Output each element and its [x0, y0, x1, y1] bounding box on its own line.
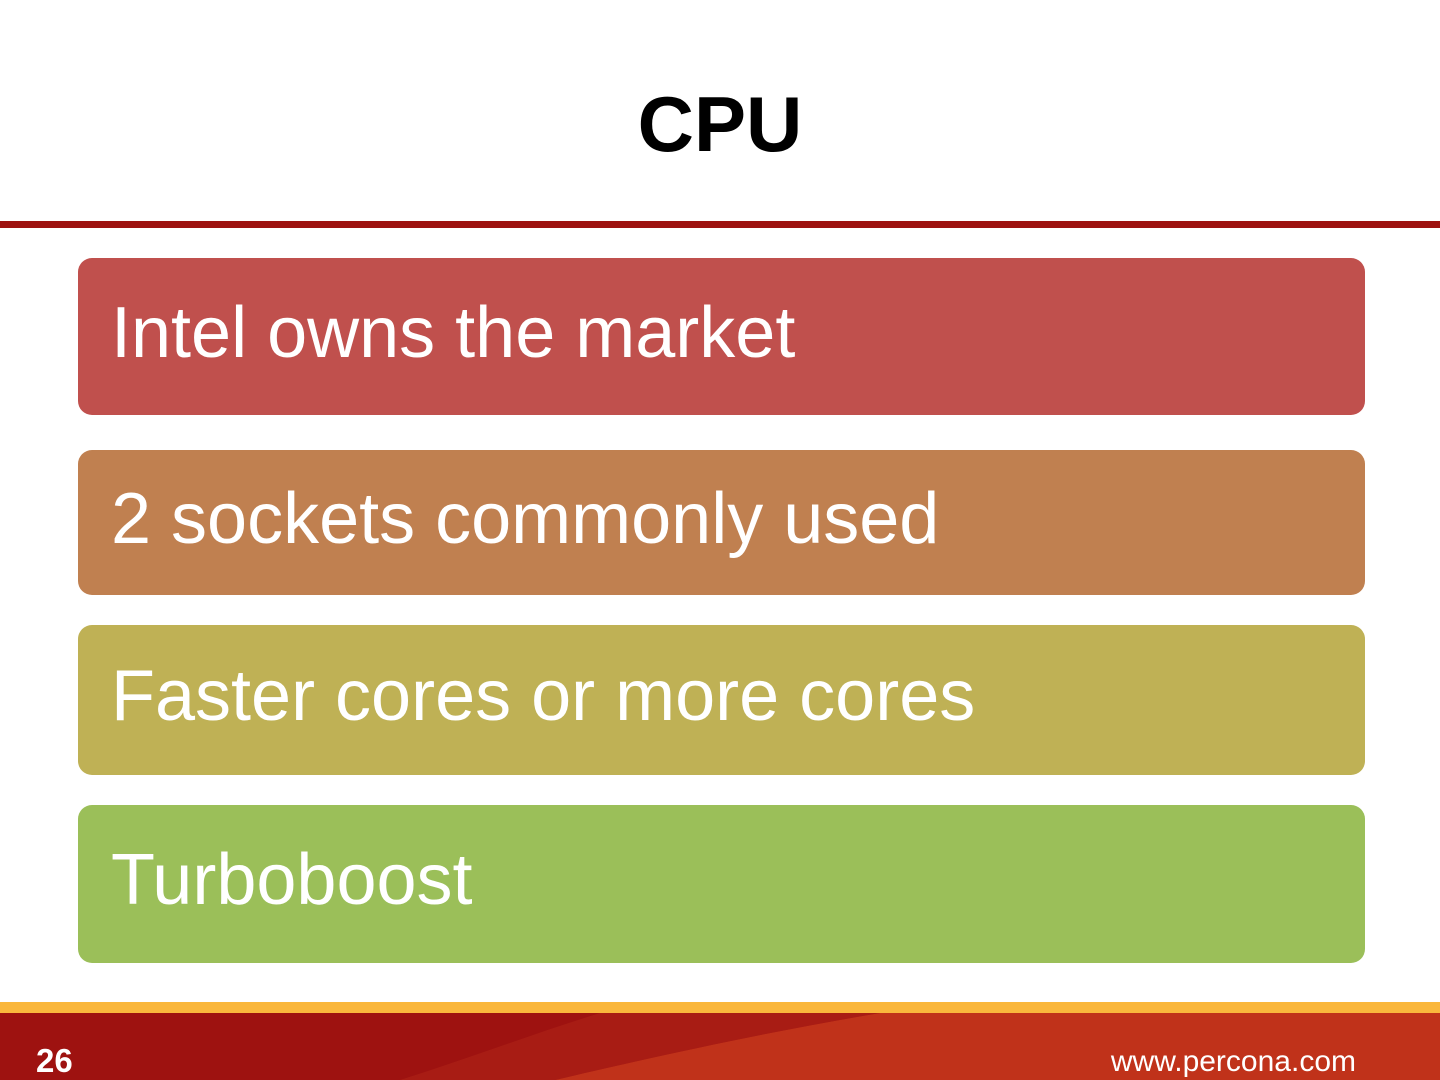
page-title: CPU	[0, 78, 1440, 170]
slide-footer: 26 www.percona.com	[0, 1002, 1440, 1080]
bullet-bar-label: Intel owns the market	[78, 294, 795, 380]
bullet-bar[interactable]: Faster cores or more cores	[78, 625, 1365, 775]
bullet-bar[interactable]: Turboboost	[78, 805, 1365, 963]
title-divider	[0, 221, 1440, 228]
bullet-bar[interactable]: Intel owns the market	[78, 258, 1365, 415]
footer-band: 26 www.percona.com	[0, 1013, 1440, 1080]
bullet-bar[interactable]: 2 sockets commonly used	[78, 450, 1365, 595]
page-number: 26	[36, 1043, 73, 1079]
bullet-bar-label: Faster cores or more cores	[78, 657, 975, 743]
bullet-bar-label: Turboboost	[78, 841, 473, 927]
footer-url[interactable]: www.percona.com	[1111, 1045, 1356, 1079]
bullet-bar-label: 2 sockets commonly used	[78, 480, 939, 566]
slide-canvas: CPU Intel owns the market 2 sockets comm…	[0, 0, 1440, 1080]
footer-accent-stripe	[0, 1002, 1440, 1013]
bullet-bar-list: Intel owns the market 2 sockets commonly…	[78, 256, 1365, 966]
